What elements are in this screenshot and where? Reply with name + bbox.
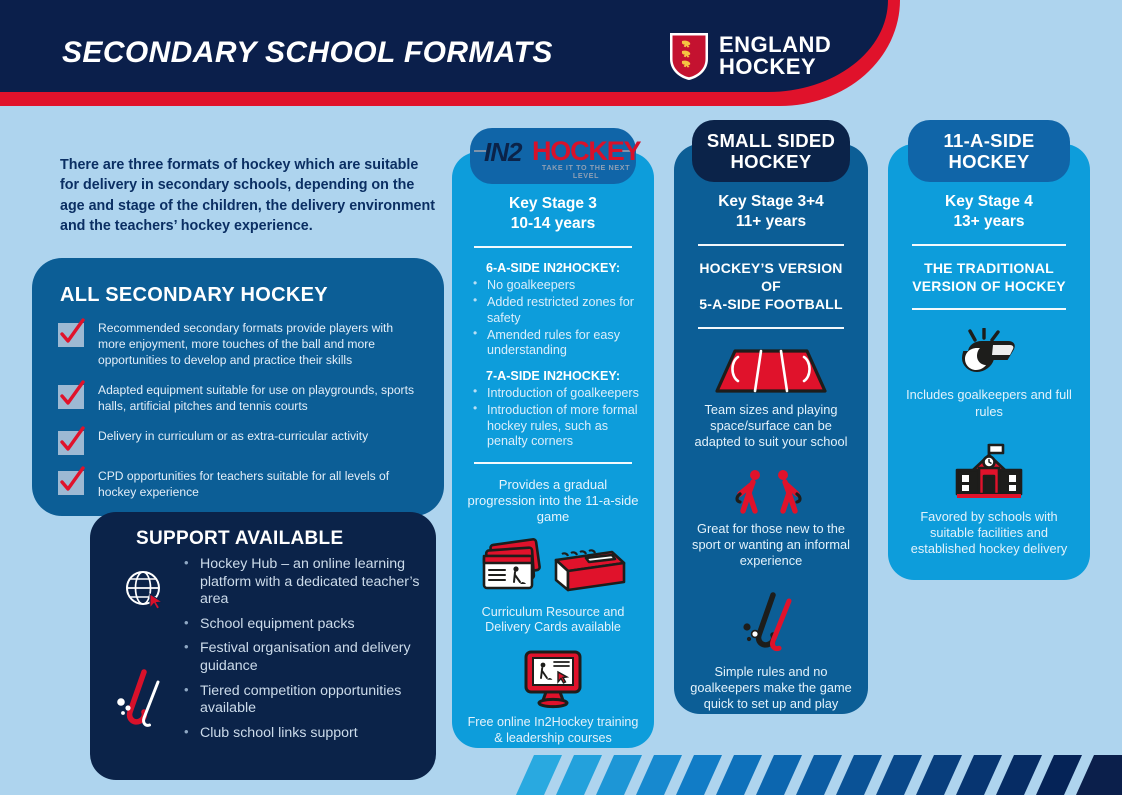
tab-small-sided-hockey[interactable]: SMALL SIDED HOCKEY bbox=[692, 120, 850, 182]
logo-tagline: TAKE IT TO THE NEXT LEVEL bbox=[536, 164, 636, 181]
sss-age-range: 11+ years bbox=[688, 212, 854, 232]
in2-group-b-list: Introduction of goalkeepers Introduction… bbox=[470, 386, 640, 449]
checklist-text: CPD opportunities for teachers suitable … bbox=[98, 469, 420, 501]
in2-caption-training: Free online In2Hockey training & leaders… bbox=[466, 715, 640, 747]
logo-text-england: ENGLAND bbox=[719, 34, 831, 56]
checklist-item: Adapted equipment suitable for use on pl… bbox=[58, 383, 420, 415]
eleven-key-stage: Key Stage 4 bbox=[902, 192, 1076, 212]
resource-cards-and-book-icon bbox=[466, 538, 640, 600]
sss-key-stage: Key Stage 3+4 bbox=[688, 192, 854, 212]
school-building-icon bbox=[902, 442, 1076, 504]
support-list-item: Festival organisation and delivery guida… bbox=[182, 640, 422, 675]
in2hockey-logo: IN2 HOCKEY TAKE IT TO THE NEXT LEVEL bbox=[470, 128, 636, 184]
sss-title-line2: HOCKEY bbox=[692, 151, 850, 172]
checklist-text: Adapted equipment suitable for use on pl… bbox=[98, 383, 420, 415]
intro-paragraph: There are three formats of hockey which … bbox=[60, 155, 438, 236]
bullet-item: Introduction of more formal hockey rules… bbox=[470, 403, 640, 449]
support-list-item: School equipment packs bbox=[182, 616, 422, 634]
eleven-age-range: 13+ years bbox=[902, 212, 1076, 232]
bottom-stripe-decoration bbox=[0, 755, 1122, 795]
checklist-item: CPD opportunities for teachers suitable … bbox=[58, 469, 420, 501]
divider bbox=[698, 327, 844, 329]
in2-caption-cards: Curriculum Resource and Delivery Cards a… bbox=[466, 605, 640, 637]
in2-key-stage: Key Stage 3 bbox=[466, 194, 640, 214]
support-icon-group bbox=[108, 556, 182, 749]
sss-caption-team-sizes: Team sizes and playing space/surface can… bbox=[688, 402, 854, 450]
hockey-stick-ball-icon bbox=[114, 666, 172, 743]
eleven-caption-favored: Favored by schools with suitable facilit… bbox=[902, 509, 1076, 557]
format-column-eleven-a-side: Key Stage 4 13+ years THE TRADITIONAL VE… bbox=[888, 144, 1090, 580]
hockey-stick-ball-icon bbox=[688, 587, 854, 659]
sss-headline-line1: HOCKEY’S VERSION OF bbox=[688, 259, 854, 295]
support-list: Hockey Hub – an online learning platform… bbox=[182, 556, 422, 749]
eleven-caption-goalkeepers: Includes goalkeepers and full rules bbox=[902, 387, 1076, 419]
checkmark-icon bbox=[58, 323, 84, 347]
bullet-item: Added restricted zones for safety bbox=[470, 295, 640, 326]
in2-progression-note: Provides a gradual progression into the … bbox=[466, 477, 640, 525]
in2-group-a-title: 6-A-SIDE IN2HOCKEY: bbox=[466, 261, 640, 275]
england-hockey-logo: ENGLAND HOCKEY bbox=[668, 30, 831, 82]
checklist-text: Delivery in curriculum or as extra-curri… bbox=[98, 429, 368, 445]
in2-group-a-list: No goalkeepers Added restricted zones fo… bbox=[470, 278, 640, 359]
in2-group-b-title: 7-A-SIDE IN2HOCKEY: bbox=[466, 369, 640, 383]
logo-text-in2: IN2 bbox=[484, 138, 521, 168]
checkmark-icon bbox=[58, 431, 84, 455]
eleven-headline-line1: THE TRADITIONAL bbox=[902, 259, 1076, 277]
divider bbox=[912, 244, 1066, 246]
whistle-icon bbox=[902, 328, 1076, 382]
divider bbox=[912, 308, 1066, 310]
sss-caption-simple-rules: Simple rules and no goalkeepers make the… bbox=[688, 664, 854, 712]
sss-title-line1: SMALL SIDED bbox=[692, 130, 850, 151]
divider bbox=[474, 462, 632, 464]
checklist-item: Recommended secondary formats provide pl… bbox=[58, 321, 420, 369]
sss-headline-line2: 5-A-SIDE FOOTBALL bbox=[688, 295, 854, 313]
bullet-item: Introduction of goalkeepers bbox=[470, 386, 640, 401]
checkmark-icon bbox=[58, 385, 84, 409]
page-title: SECONDARY SCHOOL FORMATS bbox=[62, 36, 553, 70]
two-players-icon bbox=[688, 466, 854, 516]
in2-age-range: 10-14 years bbox=[466, 214, 640, 234]
all-secondary-title: ALL SECONDARY HOCKEY bbox=[60, 284, 444, 307]
bullet-item: Amended rules for easy understanding bbox=[470, 328, 640, 359]
checklist-item: Delivery in curriculum or as extra-curri… bbox=[58, 429, 420, 455]
eleven-headline-line2: VERSION OF HOCKEY bbox=[902, 277, 1076, 295]
support-available-panel: SUPPORT AVAILABLE bbox=[90, 512, 436, 780]
online-training-monitor-icon bbox=[466, 648, 640, 710]
sss-caption-new-to-sport: Great for those new to the sport or want… bbox=[688, 521, 854, 569]
divider bbox=[474, 246, 632, 248]
hockey-pitch-icon bbox=[688, 347, 854, 397]
logo-text-hockey: HOCKEY bbox=[719, 56, 831, 78]
all-secondary-hockey-panel: ALL SECONDARY HOCKEY Recommended seconda… bbox=[32, 258, 444, 516]
divider bbox=[698, 244, 844, 246]
checklist-text: Recommended secondary formats provide pl… bbox=[98, 321, 420, 369]
globe-cursor-icon bbox=[122, 568, 168, 619]
tab-in2hockey[interactable]: IN2 HOCKEY TAKE IT TO THE NEXT LEVEL bbox=[470, 128, 636, 184]
england-hockey-shield-icon bbox=[668, 30, 710, 82]
support-list-item: Tiered competition opportunities availab… bbox=[182, 683, 422, 718]
support-list-item: Hockey Hub – an online learning platform… bbox=[182, 556, 422, 609]
format-column-in2hockey: Key Stage 3 10-14 years 6-A-SIDE IN2HOCK… bbox=[452, 152, 654, 748]
support-list-item: Club school links support bbox=[182, 725, 422, 743]
tab-eleven-a-side-hockey[interactable]: 11-A-SIDE HOCKEY bbox=[908, 120, 1070, 182]
support-title: SUPPORT AVAILABLE bbox=[136, 528, 436, 550]
page-header: SECONDARY SCHOOL FORMATS ENGLAND HOCKEY bbox=[0, 0, 1122, 108]
checkmark-icon bbox=[58, 471, 84, 495]
format-column-small-sided: Key Stage 3+4 11+ years HOCKEY’S VERSION… bbox=[674, 144, 868, 714]
bullet-item: No goalkeepers bbox=[470, 278, 640, 293]
eleven-title-line1: 11-A-SIDE bbox=[908, 130, 1070, 151]
eleven-title-line2: HOCKEY bbox=[908, 151, 1070, 172]
